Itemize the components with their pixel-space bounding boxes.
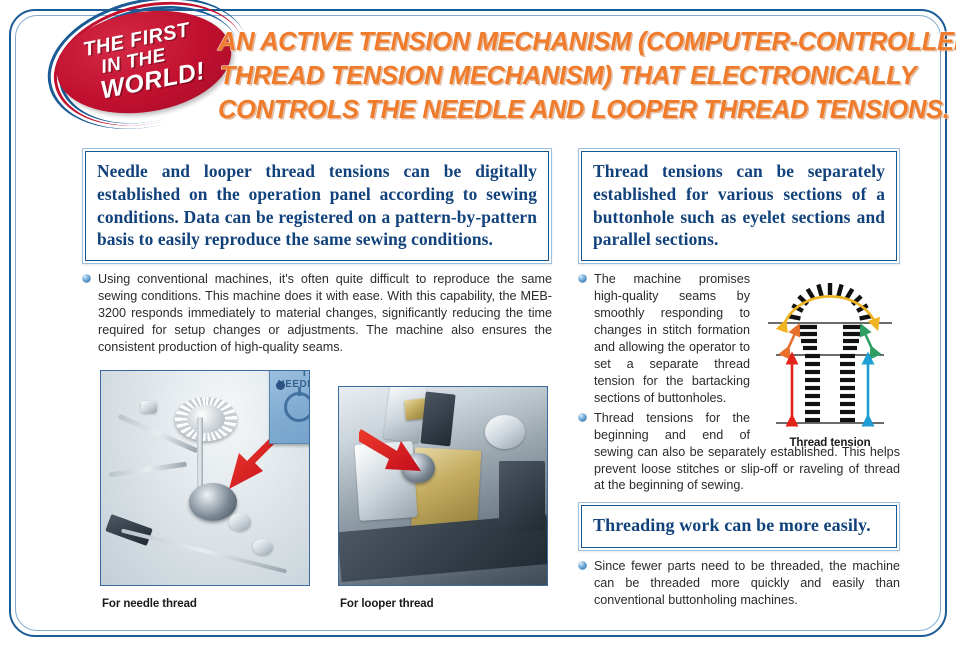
tension-panel-needle-column[interactable]: NEEDLE bbox=[270, 379, 310, 437]
bullet-dot-icon bbox=[82, 274, 91, 283]
first-in-the-world-badge: THE FIRST IN THE WORLD! bbox=[49, 0, 238, 125]
needle-tension-icon bbox=[284, 392, 310, 422]
right-bullet-3-text: Since fewer parts need to be threaded, t… bbox=[594, 559, 900, 607]
badge-text: THE FIRST IN THE WORLD! bbox=[49, 0, 238, 125]
right-bullet-2-text: Thread tensions for the beginning and en… bbox=[594, 411, 900, 493]
headline-line-1: AN ACTIVE TENSION MECHANISM (COMPUTER-CO… bbox=[218, 26, 918, 60]
list-item: Using conventional machines, it's often … bbox=[82, 271, 552, 356]
list-item: Thread tensions for the beginning and en… bbox=[578, 410, 900, 495]
right-flow: Thread tension The machine promises high… bbox=[578, 271, 900, 494]
photo-rod-3 bbox=[197, 417, 203, 493]
page-root: THE FIRST IN THE WORLD! AN ACTIVE TENSIO… bbox=[0, 0, 956, 646]
page-title: AN ACTIVE TENSION MECHANISM (COMPUTER-CO… bbox=[218, 26, 918, 128]
left-column: Needle and looper thread tensions can be… bbox=[82, 148, 552, 359]
bullet-dot-icon bbox=[578, 413, 587, 422]
tension-panel-title: TENSION bbox=[270, 370, 310, 379]
left-heading-text: Needle and looper thread tensions can be… bbox=[97, 160, 537, 251]
tension-control-panel[interactable]: TENSION NEEDLE LOOPER bbox=[269, 370, 310, 444]
photo-dark-part-b bbox=[499, 461, 545, 531]
right-bullet-list-2: Since fewer parts need to be threaded, t… bbox=[578, 558, 900, 609]
photo-part-2 bbox=[229, 513, 251, 531]
tension-panel-needle-label: NEEDLE bbox=[277, 379, 310, 390]
left-bullet-1-text: Using conventional machines, it's often … bbox=[98, 272, 552, 354]
left-heading-box: Needle and looper thread tensions can be… bbox=[82, 148, 552, 264]
red-arrow-looper-icon bbox=[359, 423, 439, 487]
bullet-dot-icon bbox=[578, 561, 587, 570]
right-heading-2-text: Threading work can be more easily. bbox=[593, 514, 885, 538]
looper-thread-photo bbox=[338, 386, 548, 586]
photo-group: TENSION NEEDLE LOOPER For needle thread bbox=[100, 362, 556, 618]
needle-thread-photo: TENSION NEEDLE LOOPER bbox=[100, 370, 310, 586]
bullet-dot-icon bbox=[578, 274, 587, 283]
right-heading-text: Thread tensions can be separately establ… bbox=[593, 160, 885, 251]
left-bullet-list: Using conventional machines, it's often … bbox=[82, 271, 552, 356]
headline-line-2: THREAD TENSION MECHANISM) THAT ELECTRONI… bbox=[218, 60, 918, 94]
needle-thread-photo-caption: For needle thread bbox=[102, 598, 197, 610]
right-column: Thread tensions can be separately establ… bbox=[578, 148, 900, 612]
photo-part-3 bbox=[253, 539, 273, 555]
photo-part-c bbox=[485, 415, 525, 449]
header: THE FIRST IN THE WORLD! AN ACTIVE TENSIO… bbox=[0, 0, 956, 140]
list-item: Since fewer parts need to be threaded, t… bbox=[578, 558, 900, 609]
looper-thread-photo-caption: For looper thread bbox=[340, 598, 434, 610]
right-bullet-list: The machine promises high-quality seams … bbox=[578, 271, 900, 494]
right-bullet-1-text: The machine promises high-quality seams … bbox=[594, 272, 750, 405]
headline-line-3: CONTROLS THE NEEDLE AND LOOPER THREAD TE… bbox=[218, 94, 918, 128]
list-item: The machine promises high-quality seams … bbox=[578, 271, 900, 407]
right-heading-box-2: Threading work can be more easily. bbox=[578, 502, 900, 551]
photo-part-1 bbox=[141, 401, 157, 413]
right-heading-box: Thread tensions can be separately establ… bbox=[578, 148, 900, 264]
